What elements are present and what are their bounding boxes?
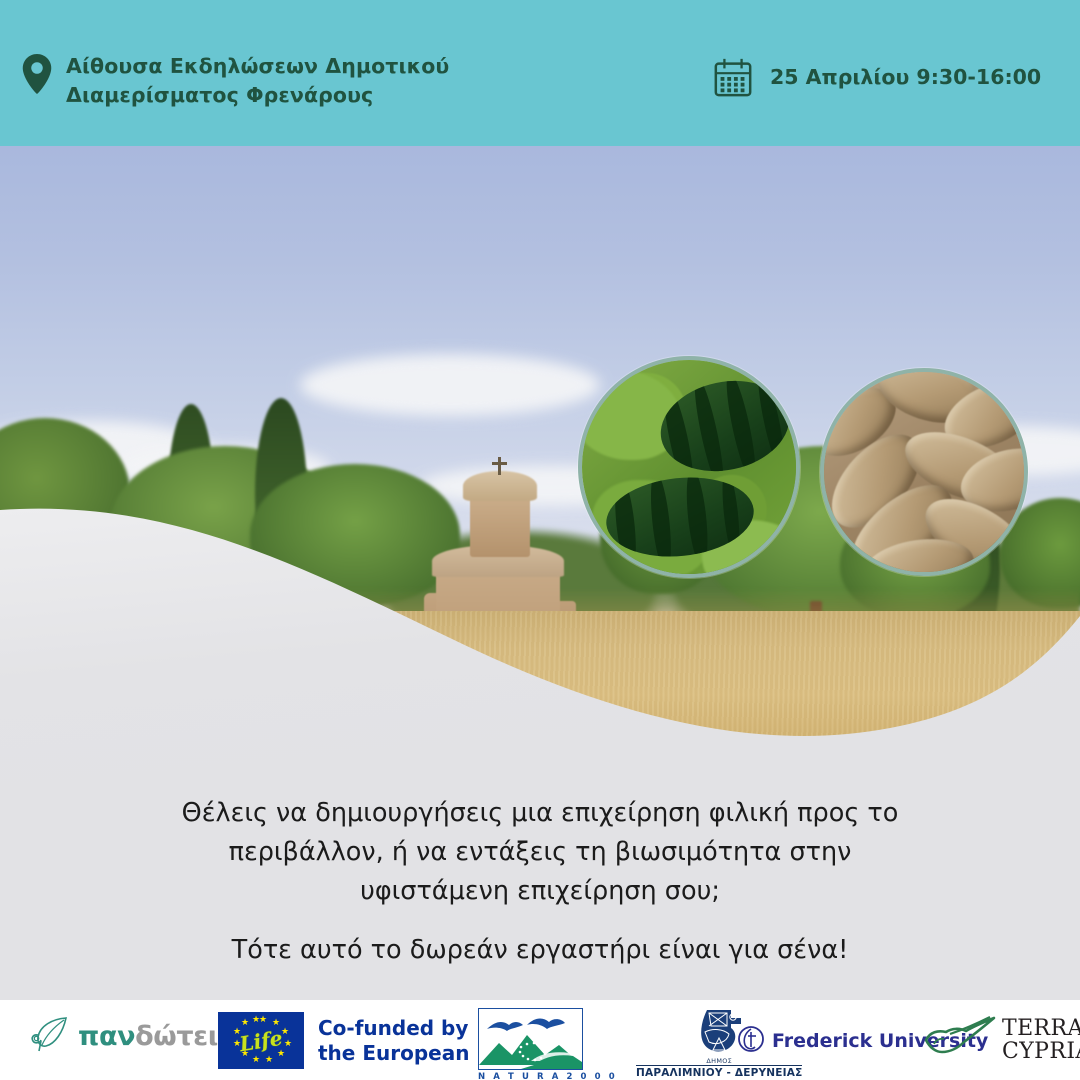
natura-block: N A T U R A 2 0 0 0	[478, 1008, 617, 1080]
terra-cypria-line-2: CYPRIA	[1002, 1040, 1080, 1063]
date-text: 25 Απριλίου 9:30-16:00	[770, 65, 1041, 89]
map-pin-icon	[22, 54, 52, 94]
church-cross-icon	[498, 457, 501, 475]
cloud	[300, 354, 600, 416]
leaf-icon	[30, 1016, 70, 1056]
terra-cypria-line-1: TERRA	[1002, 1017, 1080, 1040]
natura-label: N A T U R A 2 0 0 0	[478, 1072, 617, 1080]
date-group: 25 Απριλίου 9:30-16:00	[712, 56, 1041, 98]
paragraph-line: υφιστάμενη επιχείρηση σου;	[0, 872, 1080, 911]
terra-cypria-wordmark: TERRA CYPRIA	[1002, 1017, 1080, 1064]
church-cross-icon	[492, 462, 507, 465]
cyprus-map-icon	[920, 1012, 996, 1068]
inset-image-watermelons	[578, 356, 800, 578]
paragraph-line: περιβάλλον, ή να εντάξεις τη βιωσιμότητα…	[0, 833, 1080, 872]
inset-image-potatoes	[820, 368, 1028, 576]
birds-mountains-icon	[478, 1008, 583, 1070]
event-poster: Αίθουσα Εκδηλώσεων Δημοτικού Διαμερίσματ…	[0, 0, 1080, 1080]
frederick-monogram-icon	[738, 1026, 764, 1056]
logo-natura-2000[interactable]: N A T U R A 2 0 0 0	[478, 1008, 617, 1080]
header-bar: Αίθουσα Εκδηλώσεων Δημοτικού Διαμερίσματ…	[0, 0, 1080, 146]
location-text: Αίθουσα Εκδηλώσεων Δημοτικού Διαμερίσματ…	[66, 52, 606, 110]
paragraph-callout: Τότε αυτό το δωρεάν εργαστήρι είναι για …	[0, 931, 1080, 969]
footer-logo-bar: πανδώτειρα ★ ★ ★ ★ ★ ★ ★ ★ ★ ★ ★ ★ Life …	[0, 1000, 1080, 1080]
eu-flag-icon: ★ ★ ★ ★ ★ ★ ★ ★ ★ ★ ★ ★ Life	[218, 1012, 304, 1069]
logo-terra-cypria[interactable]: TERRA CYPRIA	[920, 1012, 1080, 1068]
content-section: Θέλεις να δημιουργήσεις μια επιχείρηση φ…	[0, 786, 1080, 1000]
pandoteira-word-part-1: παν	[78, 1021, 135, 1052]
paragraph-line: Θέλεις να δημιουργήσεις μια επιχείρηση φ…	[0, 794, 1080, 833]
location-group: Αίθουσα Εκδηλώσεων Δημοτικού Διαμερίσματ…	[22, 52, 606, 110]
hero-photo	[0, 146, 1080, 786]
calendar-icon	[712, 56, 754, 98]
dimos-line-1: ΔΗΜΟΣ	[706, 1057, 732, 1065]
paragraph-question: Θέλεις να δημιουργήσεις μια επιχείρηση φ…	[0, 794, 1080, 910]
dimos-line-2: ΠΑΡΑΛΙΜΝΙΟΥ - ΔΕΡΥΝΕΙΑΣ	[636, 1065, 802, 1079]
